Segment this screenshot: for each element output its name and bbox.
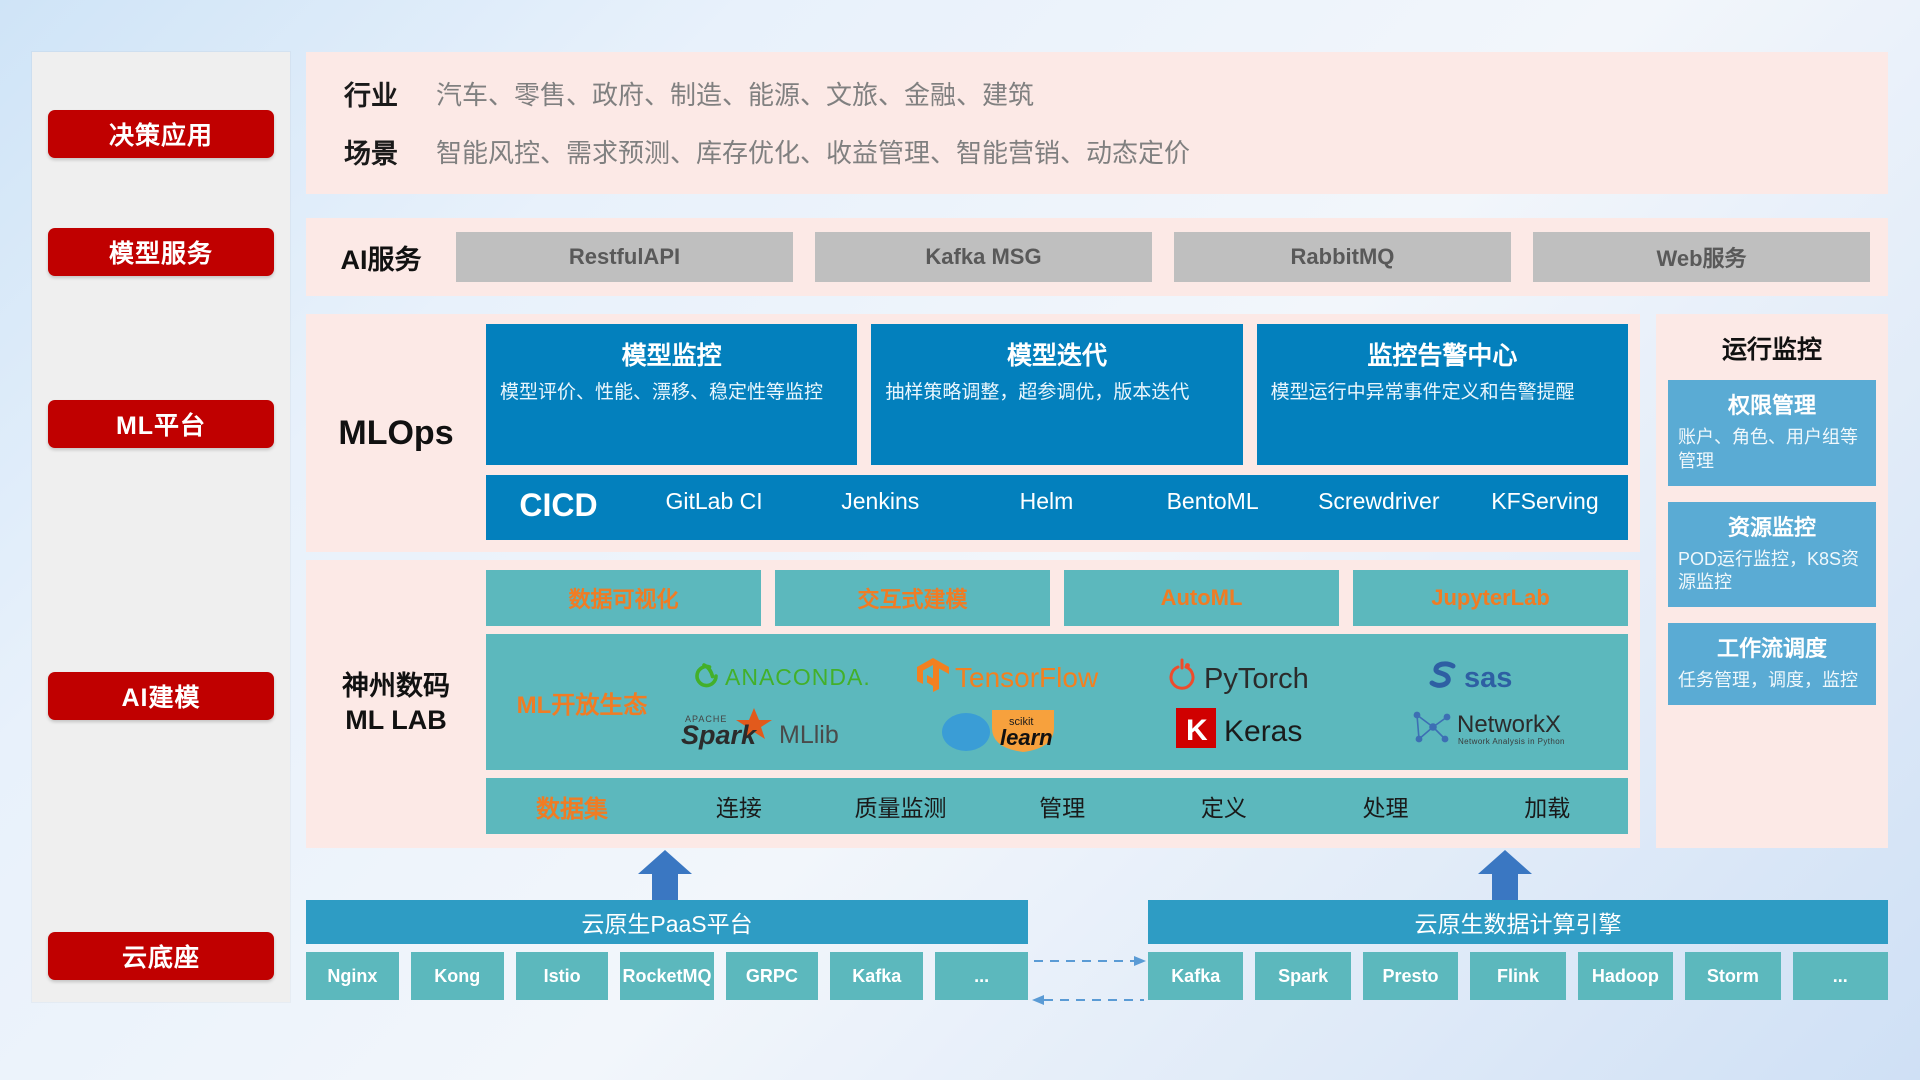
mlops-card-alert-center[interactable]: 监控告警中心 模型运行中异常事件定义和告警提醒 [1257, 324, 1628, 465]
industry-values: 汽车、零售、政府、制造、能源、文旅、金融、建筑 [436, 75, 1034, 112]
ai-service-band: AI服务 RestfulAPI Kafka MSG RabbitMQ Web服务 [306, 218, 1888, 296]
bidirectional-connector [1030, 950, 1148, 1012]
paas-chip-istio[interactable]: Istio [516, 952, 609, 1000]
mlops-label: MLOps [306, 314, 486, 552]
mlops-card-model-iteration[interactable]: 模型迭代 抽样策略调整，超参调优，版本迭代 [871, 324, 1242, 465]
engine-chip-storm[interactable]: Storm [1685, 952, 1780, 1000]
rail-item-model-service[interactable]: 模型服务 [48, 228, 274, 276]
dataset-item-manage[interactable]: 管理 [981, 789, 1143, 823]
dataset-item-quality-monitor[interactable]: 质量监测 [820, 789, 982, 823]
svg-text:Network Analysis in Python: Network Analysis in Python [1458, 737, 1565, 746]
svg-text:PyTorch: PyTorch [1204, 663, 1309, 695]
diagram-canvas: 决策应用 模型服务 ML平台 AI建模 云底座 行业 汽车、零售、政府、制造、能… [0, 0, 1920, 1080]
ai-chip-kafka-msg[interactable]: Kafka MSG [815, 232, 1152, 282]
dataset-item-define[interactable]: 定义 [1143, 789, 1305, 823]
mlops-cards: 模型监控 模型评价、性能、漂移、稳定性等监控 模型迭代 抽样策略调整，超参调优，… [486, 324, 1628, 465]
ai-chip-web-service[interactable]: Web服务 [1533, 232, 1870, 282]
engine-chip-presto[interactable]: Presto [1363, 952, 1458, 1000]
networkx-logo: NetworkX Network Analysis in Python [1407, 705, 1592, 751]
engine-chip-spark[interactable]: Spark [1255, 952, 1350, 1000]
paas-chip-kafka[interactable]: Kafka [830, 952, 923, 1000]
card-title: 模型监控 [500, 336, 843, 372]
tool-chip-data-visualization[interactable]: 数据可视化 [486, 570, 761, 626]
cicd-bar: CICD GitLab CI Jenkins Helm BentoML Scre… [486, 475, 1628, 540]
svg-text:Keras: Keras [1224, 715, 1302, 748]
card-title: 资源监控 [1678, 510, 1866, 542]
runtime-monitor-title: 运行监控 [1668, 330, 1876, 366]
ml-lab-label-line2: ML LAB [345, 704, 447, 738]
svg-text:learn: learn [1000, 725, 1053, 750]
ai-modeling-band: 神州数码 ML LAB 数据可视化 交互式建模 AutoML JupyterLa… [306, 560, 1640, 848]
cicd-item-helm[interactable]: Helm [963, 489, 1129, 513]
card-desc: 模型运行中异常事件定义和告警提醒 [1271, 380, 1614, 406]
svg-text:sas: sas [1464, 662, 1512, 694]
card-title: 模型迭代 [885, 336, 1228, 372]
keras-logo: K Keras [1174, 706, 1349, 750]
paas-chip-rocketmq[interactable]: RocketMQ [620, 952, 713, 1000]
paas-chip-more[interactable]: ... [935, 952, 1028, 1000]
engine-chip-kafka[interactable]: Kafka [1148, 952, 1243, 1000]
svg-text:NetworkX: NetworkX [1457, 711, 1561, 738]
cloud-paas-title: 云原生PaaS平台 [306, 900, 1028, 944]
dataset-title: 数据集 [486, 789, 658, 824]
svg-text:ANACONDA.: ANACONDA. [725, 664, 871, 690]
spark-mllib-logo: APACHE Spark MLlib [679, 706, 894, 750]
ml-ecosystem-row: ML开放生态 ANACONDA. [486, 634, 1628, 770]
mlops-content: 模型监控 模型评价、性能、漂移、稳定性等监控 模型迭代 抽样策略调整，超参调优，… [486, 314, 1640, 552]
paas-chip-grpc[interactable]: GRPC [726, 952, 819, 1000]
monitor-card-workflow[interactable]: 工作流调度 任务管理，调度，监控 [1668, 623, 1876, 705]
ml-ecosystem-label: ML开放生态 [496, 685, 668, 720]
tool-chip-automl[interactable]: AutoML [1064, 570, 1339, 626]
cicd-item-bentoml[interactable]: BentoML [1130, 489, 1296, 513]
rail-item-cloud-base[interactable]: 云底座 [48, 932, 274, 980]
card-desc: 任务管理，调度，监控 [1678, 669, 1866, 693]
scenario-values: 智能风控、需求预测、库存优化、收益管理、智能营销、动态定价 [436, 133, 1190, 170]
ai-chip-rabbitmq[interactable]: RabbitMQ [1174, 232, 1511, 282]
ml-ecosystem-logos: ANACONDA. TensorFlow [668, 650, 1618, 754]
ai-chip-restfulapi[interactable]: RestfulAPI [456, 232, 793, 282]
rail-item-ai-modeling[interactable]: AI建模 [48, 672, 274, 720]
pytorch-logo: PyTorch [1164, 657, 1359, 695]
dataset-row: 数据集 连接 质量监测 管理 定义 处理 加载 [486, 778, 1628, 834]
engine-chip-more[interactable]: ... [1793, 952, 1888, 1000]
dataset-item-connect[interactable]: 连接 [658, 789, 820, 823]
engine-chip-flink[interactable]: Flink [1470, 952, 1565, 1000]
rail-item-ml-platform[interactable]: ML平台 [48, 400, 274, 448]
cicd-item-jenkins[interactable]: Jenkins [797, 489, 963, 513]
tool-chip-jupyterlab[interactable]: JupyterLab [1353, 570, 1628, 626]
scenario-label: 场景 [306, 132, 436, 171]
ai-service-label: AI服务 [306, 238, 456, 277]
rail-item-decision-app[interactable]: 决策应用 [48, 110, 274, 158]
card-title: 工作流调度 [1678, 631, 1866, 663]
modeling-content: 数据可视化 交互式建模 AutoML JupyterLab ML开放生态 [486, 560, 1640, 848]
cloud-engine-title: 云原生数据计算引擎 [1148, 900, 1888, 944]
engine-chip-hadoop[interactable]: Hadoop [1578, 952, 1673, 1000]
tool-chip-interactive-modeling[interactable]: 交互式建模 [775, 570, 1050, 626]
svg-text:MLlib: MLlib [779, 721, 839, 749]
cicd-item-kfserving[interactable]: KFServing [1462, 489, 1628, 513]
paas-chip-nginx[interactable]: Nginx [306, 952, 399, 1000]
cicd-title: CICD [486, 489, 631, 521]
dataset-item-load[interactable]: 加载 [1466, 789, 1628, 823]
runtime-monitor-panel: 运行监控 权限管理 账户、角色、用户组等管理 资源监控 POD运行监控，K8S资… [1656, 314, 1888, 848]
monitor-card-permission[interactable]: 权限管理 账户、角色、用户组等管理 [1668, 380, 1876, 486]
arrow-up-engine [1470, 848, 1540, 904]
monitor-card-resource[interactable]: 资源监控 POD运行监控，K8S资源监控 [1668, 502, 1876, 608]
mlops-card-model-monitoring[interactable]: 模型监控 模型评价、性能、漂移、稳定性等监控 [486, 324, 857, 465]
card-desc: 账户、角色、用户组等管理 [1678, 426, 1866, 474]
industry-label: 行业 [306, 74, 436, 113]
svg-text:TensorFlow: TensorFlow [955, 662, 1099, 693]
anaconda-logo: ANACONDA. [692, 659, 882, 693]
paas-chip-row: Nginx Kong Istio RocketMQ GRPC Kafka ... [306, 952, 1028, 1000]
arrow-up-paas [630, 848, 700, 904]
cicd-item-screwdriver[interactable]: Screwdriver [1296, 489, 1462, 513]
card-desc: 抽样策略调整，超参调优，版本迭代 [885, 380, 1228, 406]
sas-logo: sas [1424, 657, 1574, 695]
scikit-learn-logo: scikit learn [932, 702, 1117, 754]
industry-scenario-band: 行业 汽车、零售、政府、制造、能源、文旅、金融、建筑 场景 智能风控、需求预测、… [306, 52, 1888, 194]
svg-text:Spark: Spark [681, 720, 758, 750]
card-desc: POD运行监控，K8S资源监控 [1678, 548, 1866, 596]
tensorflow-logo: TensorFlow [917, 656, 1132, 696]
left-rail [32, 52, 290, 1002]
ml-lab-label: 神州数码 ML LAB [306, 560, 486, 848]
engine-chip-row: Kafka Spark Presto Flink Hadoop Storm ..… [1148, 952, 1888, 1000]
ml-lab-label-line1: 神州数码 [342, 670, 450, 704]
modeling-tools-row: 数据可视化 交互式建模 AutoML JupyterLab [486, 570, 1628, 626]
card-title: 监控告警中心 [1271, 336, 1614, 372]
card-title: 权限管理 [1678, 388, 1866, 420]
dataset-item-process[interactable]: 处理 [1305, 789, 1467, 823]
mlops-band: MLOps 模型监控 模型评价、性能、漂移、稳定性等监控 模型迭代 抽样策略调整… [306, 314, 1640, 552]
card-desc: 模型评价、性能、漂移、稳定性等监控 [500, 380, 843, 406]
paas-chip-kong[interactable]: Kong [411, 952, 504, 1000]
ai-service-items: RestfulAPI Kafka MSG RabbitMQ Web服务 [456, 232, 1888, 282]
svg-text:K: K [1186, 714, 1208, 747]
cicd-item-gitlab-ci[interactable]: GitLab CI [631, 489, 797, 513]
